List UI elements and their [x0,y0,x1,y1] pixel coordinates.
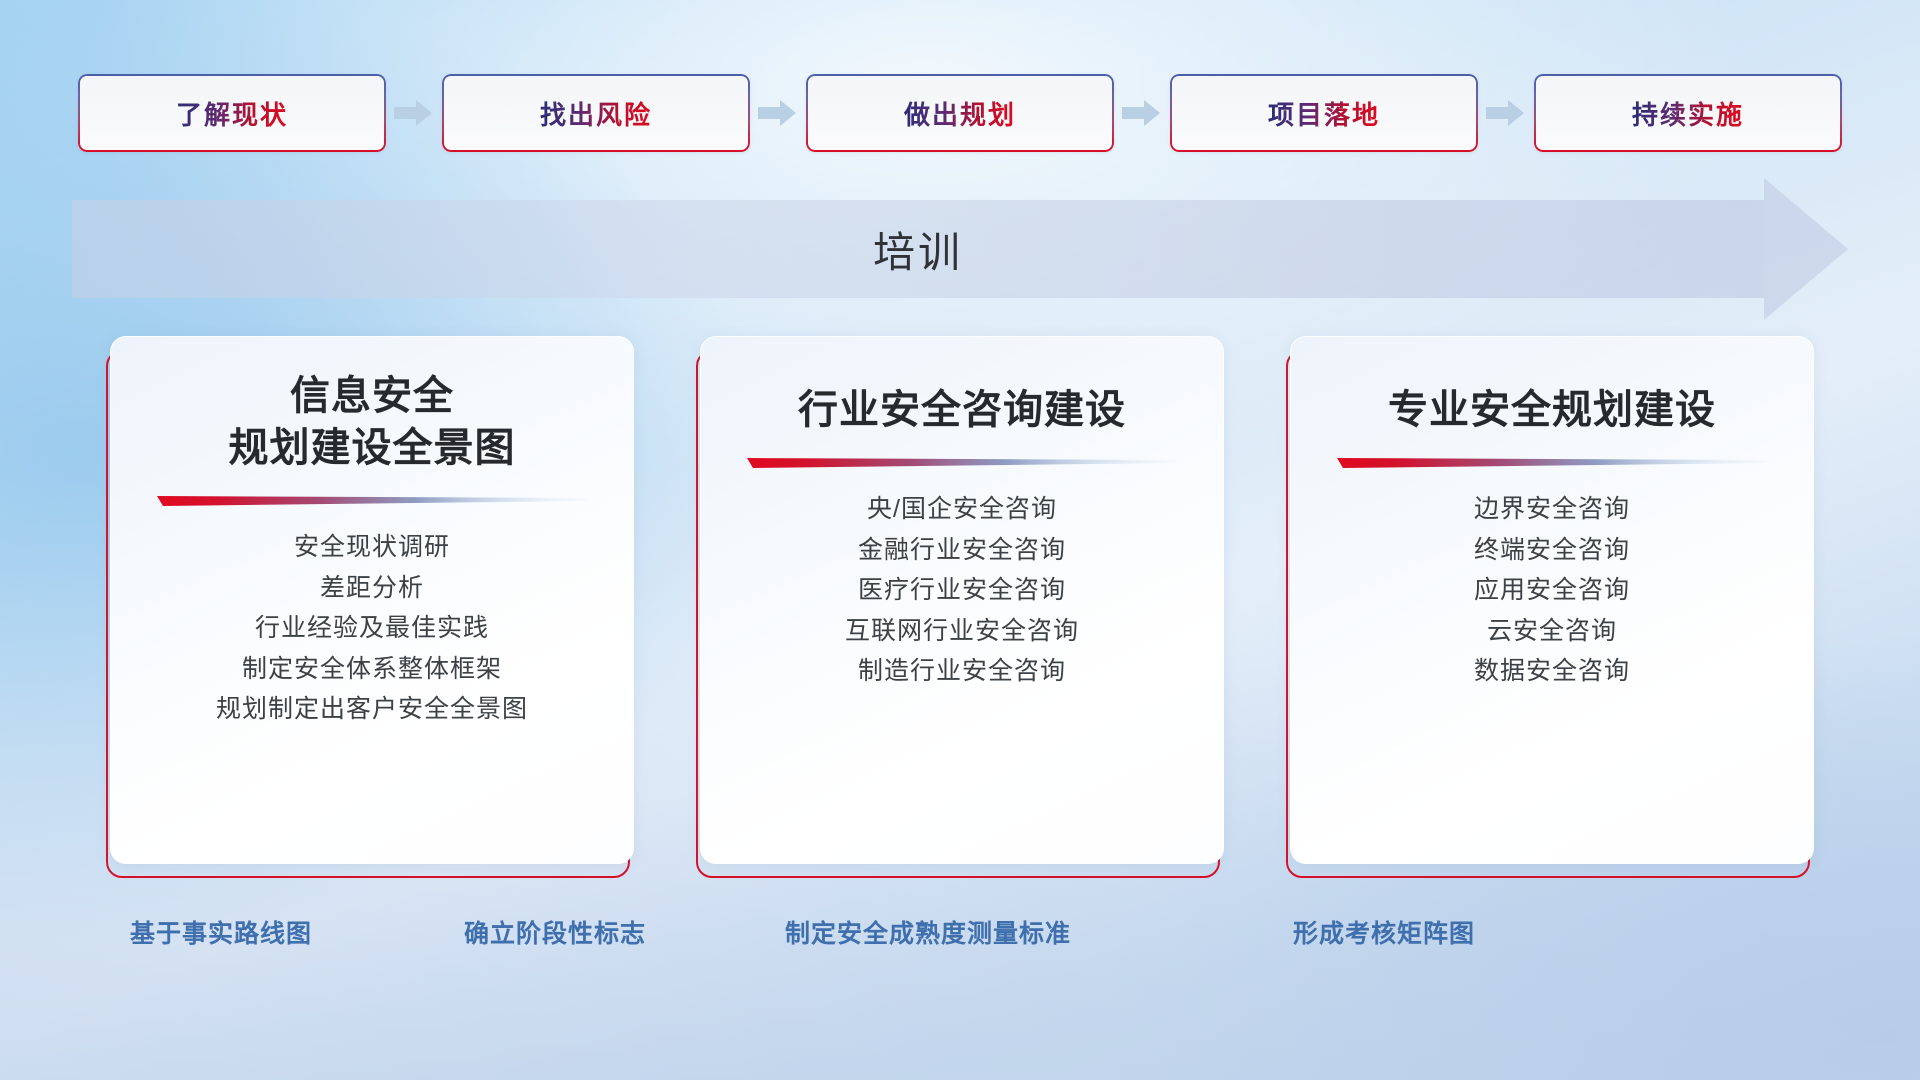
card-3[interactable]: 专业安全规划建设 [1290,336,1814,864]
card-1-wrapper: 信息安全 规划建设全景图 [106,336,634,878]
list-item: 安全现状调研 [294,534,450,562]
process-step-5[interactable]: 持续实施 [1534,74,1842,152]
list-item: 边界安全咨询 [1474,496,1630,524]
card-list: 央/国企安全咨询 金融行业安全咨询 医疗行业安全咨询 互联网行业安全咨询 制造行… [700,496,1224,686]
right-arrow-banner-icon [1764,178,1848,320]
list-item: 规划制定出客户安全全景图 [216,696,528,724]
list-item: 医疗行业安全咨询 [858,577,1066,605]
process-step-2[interactable]: 找出风险 [442,74,750,152]
list-item: 央/国企安全咨询 [867,496,1057,524]
training-banner: 培训 [72,200,1848,298]
process-step-3[interactable]: 做出规划 [806,74,1114,152]
process-step-row: 了解现状 找出风险 做出规划 项目落地 持续实施 [0,74,1920,152]
list-item: 应用安全咨询 [1474,577,1630,605]
footer-label-1: 基于事实路线图 [130,914,312,950]
list-item: 云安全咨询 [1487,618,1617,646]
banner-title: 培训 [72,200,1764,298]
card-1[interactable]: 信息安全 规划建设全景图 [110,336,634,864]
process-step-label: 找出风险 [540,95,652,132]
card-title: 专业安全规划建设 [1290,384,1814,436]
card-title-line: 专业安全规划建设 [1290,384,1814,436]
list-item: 制定安全体系整体框架 [242,656,502,684]
list-item: 行业经验及最佳实践 [255,615,489,643]
process-step-label: 持续实施 [1632,95,1744,132]
process-step-label: 了解现状 [176,95,288,132]
list-item: 制造行业安全咨询 [858,658,1066,686]
card-2[interactable]: 行业安全咨询建设 [700,336,1224,864]
list-item: 互联网行业安全咨询 [845,618,1079,646]
right-arrow-icon [1478,92,1534,134]
card-title: 行业安全咨询建设 [700,384,1224,436]
card-divider [747,456,1177,470]
list-item: 差距分析 [320,575,424,603]
right-arrow-icon [750,92,806,134]
process-step-1[interactable]: 了解现状 [78,74,386,152]
list-item: 终端安全咨询 [1474,537,1630,565]
card-title-line: 规划建设全景图 [110,422,634,474]
card-divider [157,494,587,508]
list-item: 金融行业安全咨询 [858,537,1066,565]
card-list: 安全现状调研 差距分析 行业经验及最佳实践 制定安全体系整体框架 规划制定出客户… [110,534,634,724]
footer-label-3: 制定安全成熟度测量标准 [785,914,1071,950]
card-divider [1337,456,1767,470]
footer-label-row: 基于事实路线图 确立阶段性标志 制定安全成熟度测量标准 形成考核矩阵图 [0,914,1920,958]
right-arrow-icon [1114,92,1170,134]
process-step-label: 项目落地 [1268,95,1380,132]
card-row: 信息安全 规划建设全景图 [0,336,1920,878]
list-item: 数据安全咨询 [1474,658,1630,686]
card-list: 边界安全咨询 终端安全咨询 应用安全咨询 云安全咨询 数据安全咨询 [1290,496,1814,686]
card-title-line: 信息安全 [110,370,634,422]
process-step-label: 做出规划 [904,95,1016,132]
right-arrow-icon [386,92,442,134]
footer-label-4: 形成考核矩阵图 [1293,914,1475,950]
card-title: 信息安全 规划建设全景图 [110,370,634,474]
card-2-wrapper: 行业安全咨询建设 [696,336,1224,878]
footer-label-2: 确立阶段性标志 [464,914,646,950]
card-title-line: 行业安全咨询建设 [700,384,1224,436]
card-3-wrapper: 专业安全规划建设 [1286,336,1814,878]
process-step-4[interactable]: 项目落地 [1170,74,1478,152]
